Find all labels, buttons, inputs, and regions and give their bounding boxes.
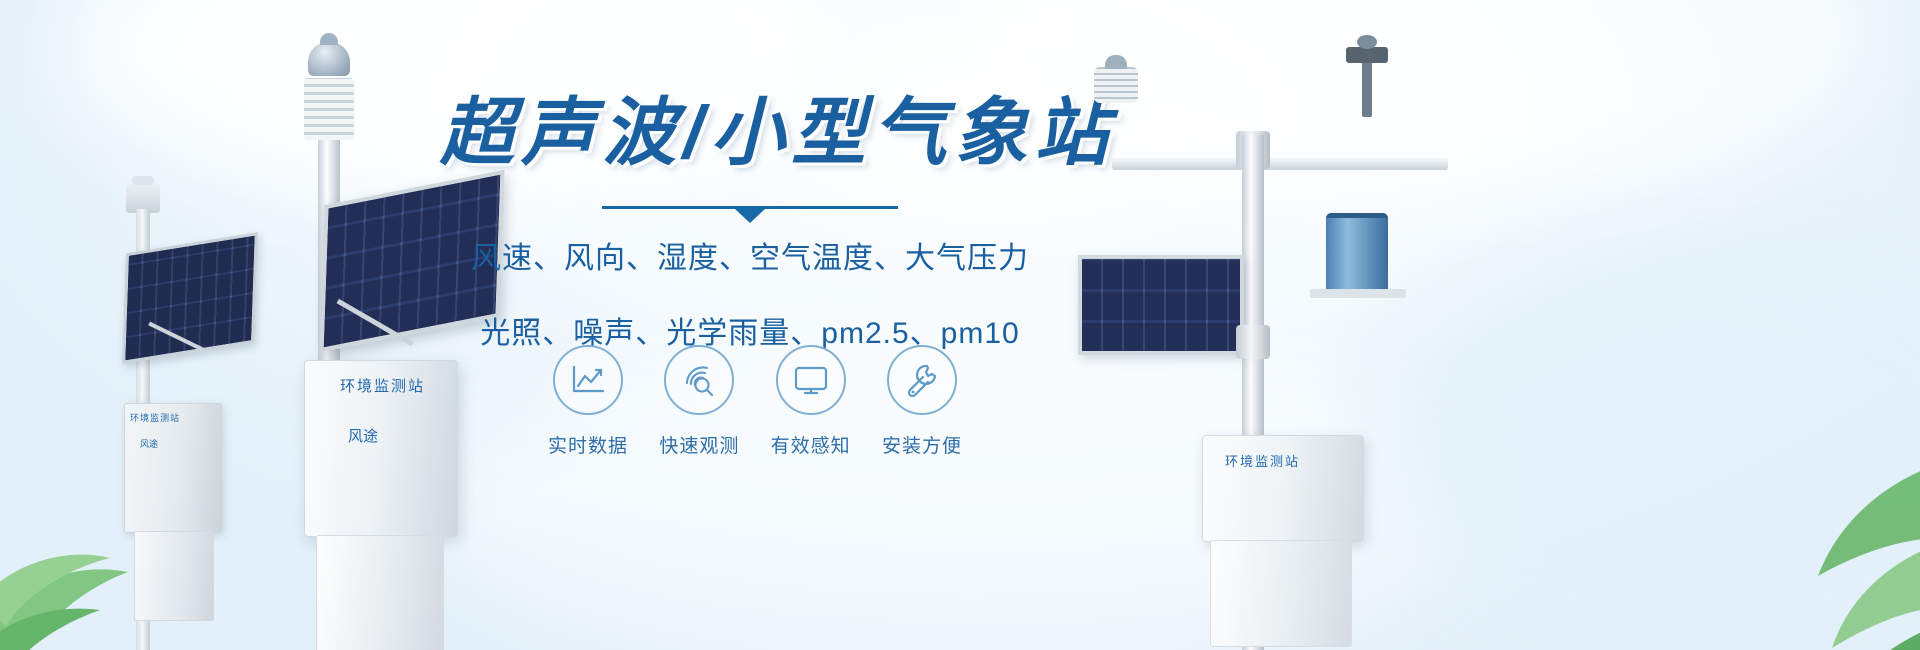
subtitle-line-1: 风速、风向、湿度、空气温度、大气压力 (440, 235, 1060, 284)
solar-panel (1078, 255, 1244, 355)
device-tag-label: 环境监测站 (1225, 451, 1300, 470)
title-divider (602, 206, 898, 209)
feature-list: 实时数据 快速观测 有效感知 (540, 345, 970, 458)
feature-label: 安装方便 (874, 431, 970, 458)
feature-label: 实时数据 (540, 431, 636, 458)
background-cloud-glow (1380, 240, 1920, 650)
product-image-station-right: 环境监测站 (1060, 45, 1460, 650)
feature-item-easy-installation[interactable]: 安装方便 (874, 345, 970, 458)
radar-signal-icon (664, 345, 734, 415)
product-image-station-left: 环境监测站 风途 (110, 175, 290, 650)
battery-enclosure (134, 531, 214, 621)
line-chart-icon (553, 345, 623, 415)
wrench-icon (887, 345, 957, 415)
feature-item-realtime-data[interactable]: 实时数据 (540, 345, 636, 458)
leaf-decoration-right (1650, 390, 1920, 650)
brand-label: 风途 (348, 425, 378, 446)
cross-arm (1112, 157, 1448, 170)
device-tag-label: 环境监测站 (340, 375, 425, 396)
page-title: 超声波/小型气象站 (440, 96, 1060, 170)
rain-gauge-base (1310, 289, 1406, 298)
product-hero-banner: 环境监测站 风途 环境监测站 风途 超声波/小型气象站 风速、风向、湿度、空气温… (0, 0, 1920, 650)
battery-enclosure (1210, 540, 1352, 647)
mast-collar (1236, 325, 1270, 359)
feature-item-fast-observation[interactable]: 快速观测 (651, 345, 747, 458)
feature-label: 有效感知 (763, 431, 859, 458)
radiation-shield (304, 78, 354, 140)
feature-item-effective-sensing[interactable]: 有效感知 (763, 345, 859, 458)
ultrasonic-sensor-icon (1094, 67, 1138, 103)
feature-label: 快速观测 (651, 431, 747, 458)
hero-copy: 超声波/小型气象站 风速、风向、湿度、空气温度、大气压力 光照、噪声、光学雨量、… (440, 96, 1060, 358)
brand-label: 风途 (140, 437, 158, 450)
monitor-icon (776, 345, 846, 415)
device-tag-label: 环境监测站 (130, 411, 180, 424)
wind-vane-icon (1362, 55, 1372, 117)
battery-enclosure (316, 535, 444, 650)
radiation-dome-icon (308, 42, 350, 76)
rain-gauge (1326, 213, 1388, 294)
